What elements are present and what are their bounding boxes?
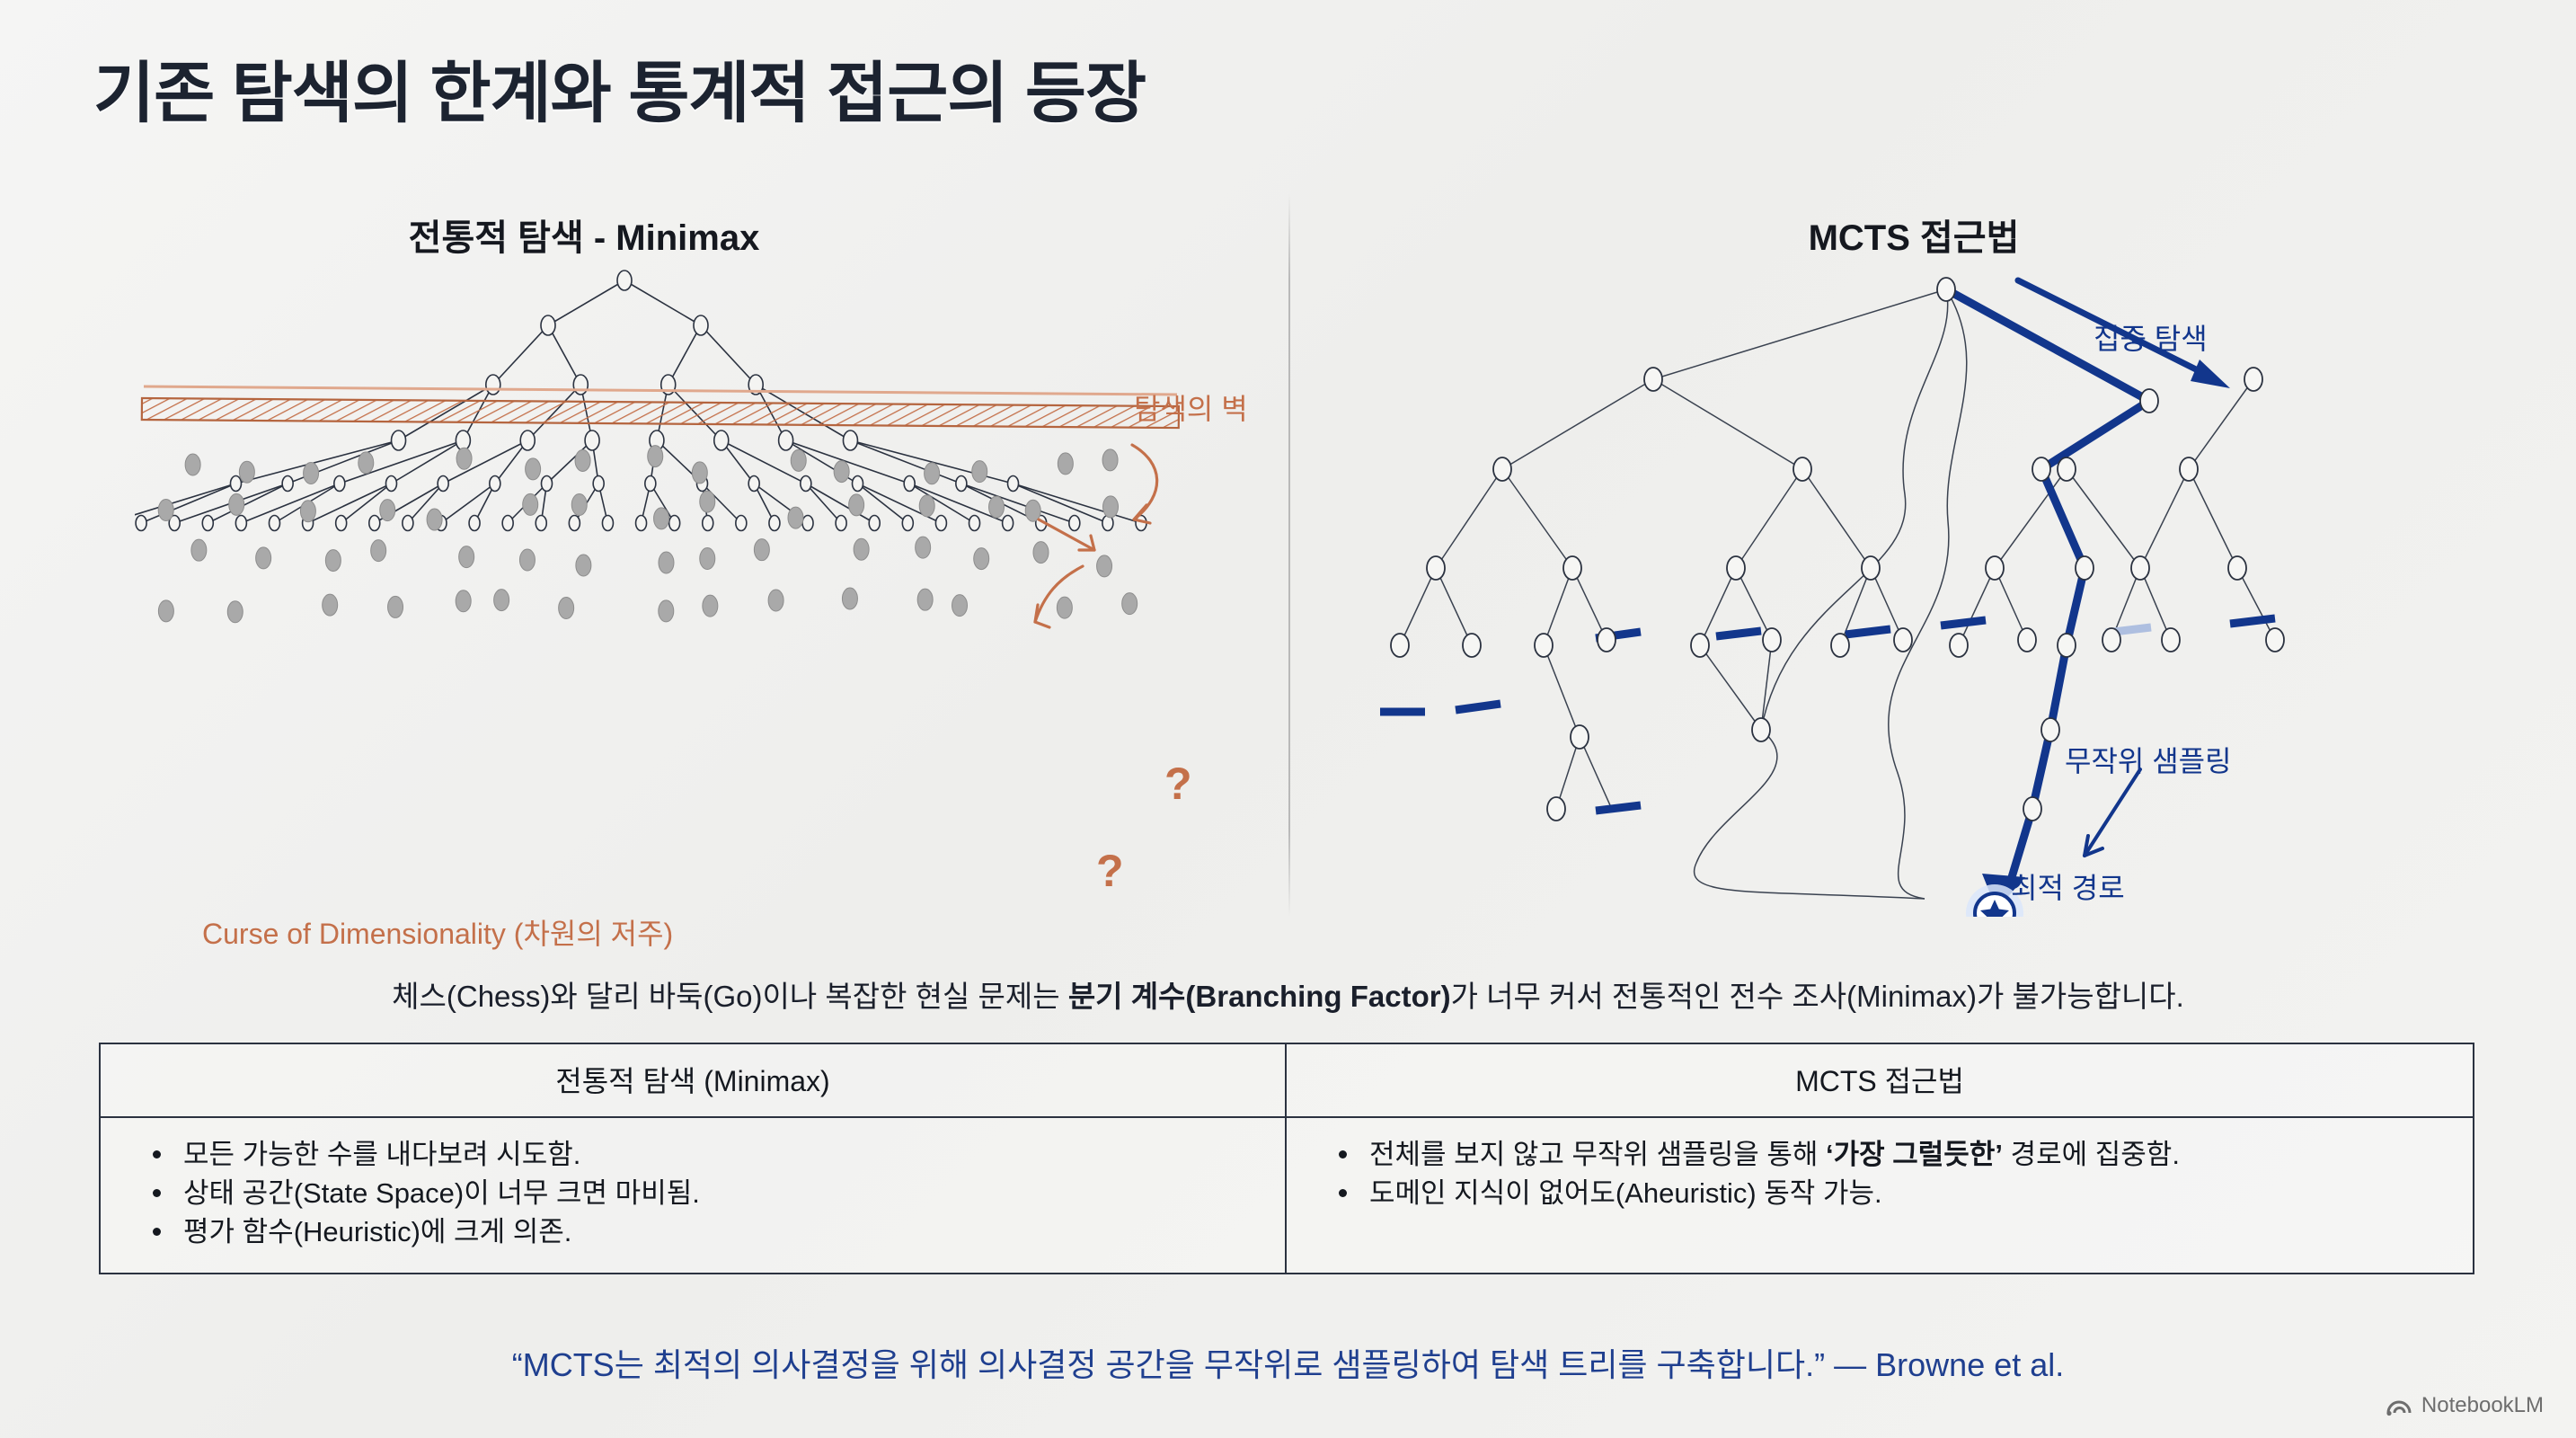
state-dot [834, 461, 849, 483]
state-dot [576, 555, 591, 576]
tree-node [469, 516, 480, 531]
state-dot [191, 539, 207, 561]
tree-node [2266, 628, 2284, 652]
tree-node [2076, 556, 2094, 580]
tree-node [2131, 556, 2149, 580]
tree-node [802, 516, 813, 531]
table-cell-mcts: 전체를 보지 않고 무작위 샘플링을 통해 ‘가장 그럴듯한’ 경로에 집중함.… [1287, 1118, 2473, 1273]
page-title: 기존 탐색의 한계와 통계적 접근의 등장 [93, 40, 1146, 136]
tree-node [438, 476, 448, 492]
tree-node [136, 516, 146, 531]
state-dot [1103, 496, 1119, 518]
tree-node [585, 431, 599, 450]
state-dot [519, 549, 535, 571]
tree-node [2102, 628, 2120, 652]
tree-node [1427, 556, 1445, 580]
state-dot [227, 601, 243, 623]
notebooklm-label: NotebookLM [2421, 1393, 2544, 1418]
state-space-dot-cloud [158, 446, 1137, 623]
state-dot [919, 495, 934, 517]
bullet-post: 경로에 집중함. [2003, 1139, 2180, 1170]
tree-node [1763, 628, 1781, 652]
tree-node [502, 516, 513, 531]
state-dot [575, 449, 590, 471]
table-header-minimax: 전통적 탐색 (Minimax) [101, 1044, 1287, 1116]
best-path-label: 최적 경로 [2011, 865, 2125, 907]
state-dot [974, 548, 989, 570]
search-wall-label: 탐색의 벽 [1134, 386, 1248, 428]
state-dot [849, 494, 864, 516]
tree-node [1547, 797, 1565, 821]
curse-of-dimensionality-label: Curse of Dimensionality (차원의 저주) [202, 911, 673, 953]
tree-node [2244, 368, 2262, 391]
tree-node [1535, 634, 1553, 657]
state-dot [788, 507, 803, 528]
tree-node [617, 271, 632, 290]
mcts-tree-diagram [1366, 270, 2534, 917]
list-item: 전체를 보지 않고 무작위 샘플링을 통해 ‘가장 그럴듯한’ 경로에 집중함. [1328, 1136, 2464, 1173]
tree-node [490, 476, 500, 492]
tree-node [869, 516, 880, 531]
tree-node [1008, 476, 1019, 492]
tree-node [1831, 634, 1849, 657]
state-dot [854, 538, 869, 560]
tree-node [569, 516, 580, 531]
tree-node [843, 431, 857, 450]
tree-node [1894, 628, 1912, 652]
tree-node [1950, 634, 1968, 657]
random-sampling-arrow [2085, 769, 2140, 856]
tree-node [392, 431, 406, 450]
state-dot [371, 540, 386, 562]
state-dot [456, 448, 472, 469]
state-dot [304, 463, 319, 484]
minimax-bullet-list: 모든 가능한 수를 내다보려 시도함. 상태 공간(State Space)이 … [142, 1136, 1276, 1251]
table-cell-minimax: 모든 가능한 수를 내다보려 시도함. 상태 공간(State Space)이 … [101, 1118, 1287, 1273]
state-dot [256, 547, 271, 569]
tree-node [202, 516, 213, 531]
tree-node [336, 516, 347, 531]
tree-node [235, 516, 246, 531]
tree-node [403, 516, 413, 531]
tree-node [486, 375, 500, 395]
state-dot [523, 493, 538, 515]
wall-question-arrow [1035, 445, 1157, 627]
tree-node [1752, 718, 1770, 741]
state-dot [1057, 597, 1072, 618]
mcts-leaf-bars [1380, 618, 2275, 811]
comparison-table: 전통적 탐색 (Minimax) MCTS 접근법 모든 가능한 수를 내다보려… [99, 1043, 2474, 1274]
state-dot [1033, 542, 1049, 564]
tree-node [969, 516, 980, 531]
notebooklm-icon [2386, 1395, 2412, 1416]
state-dot [229, 493, 244, 515]
bullet-pre: 전체를 보지 않고 무작위 샘플링을 통해 [1369, 1139, 1826, 1170]
tree-node [2140, 389, 2158, 413]
state-dot [494, 590, 509, 611]
tree-node [602, 516, 613, 531]
random-sampling-label: 무작위 샘플링 [2065, 739, 2232, 780]
left-panel-heading: 전통적 탐색 - Minimax [180, 209, 988, 261]
state-dot [700, 491, 715, 512]
state-dot [659, 552, 674, 573]
state-dot [842, 588, 857, 609]
state-dot [456, 590, 471, 612]
state-dot [388, 596, 403, 617]
tree-node [904, 476, 915, 492]
table-header-mcts: MCTS 접근법 [1287, 1044, 2473, 1116]
tree-node [1793, 457, 1811, 481]
list-item: 평가 함수(Heuristic)에 크게 의존. [142, 1213, 1276, 1250]
state-dot [1122, 593, 1138, 615]
state-dot [768, 590, 783, 611]
panel-divider [1288, 193, 1290, 917]
tree-node [520, 431, 535, 450]
right-panel-heading: MCTS 접근법 [1456, 209, 2372, 261]
tree-node [636, 516, 647, 531]
state-dot [571, 494, 587, 516]
table-body-row: 모든 가능한 수를 내다보려 시도함. 상태 공간(State Space)이 … [101, 1118, 2473, 1273]
mcts-thin-edges [1400, 289, 2275, 899]
state-dot [459, 546, 474, 568]
tree-node [902, 516, 913, 531]
state-dot [158, 600, 173, 622]
state-dot [239, 461, 254, 483]
tree-node [385, 476, 396, 492]
tree-node [836, 516, 846, 531]
state-dot [703, 595, 718, 617]
tree-node [714, 431, 729, 450]
tree-node [573, 375, 588, 395]
state-dot [916, 537, 931, 558]
state-dot [654, 508, 669, 529]
tree-node [1003, 516, 1014, 531]
tree-node [779, 431, 793, 450]
state-dot [925, 463, 940, 484]
state-dot [1058, 453, 1073, 475]
tree-node [2018, 628, 2036, 652]
list-item: 도메인 지식이 없어도(Aheuristic) 동작 가능. [1328, 1175, 2464, 1212]
state-dot [158, 500, 173, 521]
tree-node [1644, 368, 1662, 391]
state-dot [526, 458, 541, 480]
tree-node [1563, 556, 1581, 580]
mcts-bullet-list: 전체를 보지 않고 무작위 샘플링을 통해 ‘가장 그럴듯한’ 경로에 집중함.… [1328, 1136, 2464, 1212]
tree-node [1598, 628, 1616, 652]
caption-line: 체스(Chess)와 달리 바둑(Go)이나 복잡한 현실 문제는 분기 계수(… [0, 972, 2576, 1016]
tree-node [645, 476, 656, 492]
question-mark-upper: ? [1164, 758, 1192, 810]
tree-node [541, 315, 555, 335]
tree-node [593, 476, 604, 492]
tree-node [2228, 556, 2246, 580]
state-dot [659, 600, 674, 622]
state-dot [300, 501, 315, 522]
state-dot [952, 595, 968, 617]
state-dot [1097, 555, 1112, 577]
list-item: 상태 공간(State Space)이 너무 크면 마비됨. [142, 1175, 1276, 1212]
state-dot [427, 509, 442, 530]
tree-node [334, 476, 345, 492]
table-header-row: 전통적 탐색 (Minimax) MCTS 접근법 [101, 1044, 2473, 1118]
tree-node [2058, 457, 2076, 481]
tree-node [1069, 516, 1080, 531]
list-item: 모든 가능한 수를 내다보려 시도함. [142, 1136, 1276, 1173]
caption-bold: 분기 계수(Branching Factor) [1068, 980, 1451, 1013]
state-dot [917, 589, 933, 610]
tree-node [2032, 457, 2050, 481]
tree-node [269, 516, 279, 531]
quote-line: “MCTS는 최적의 의사결정을 위해 의사결정 공간을 무작위로 샘플링하여 … [0, 1339, 2576, 1386]
state-dot [185, 454, 200, 475]
focused-search-label: 집중 탐색 [2094, 316, 2208, 358]
tree-node [1391, 634, 1409, 657]
tree-node [1463, 634, 1481, 657]
state-dot [323, 594, 338, 616]
state-dot [700, 547, 715, 569]
state-dot [989, 496, 1005, 518]
tree-node [541, 476, 552, 492]
tree-node [1493, 457, 1511, 481]
tree-node [1727, 556, 1745, 580]
state-dot [972, 461, 987, 483]
tree-node [2041, 718, 2059, 741]
slide-canvas: 기존 탐색의 한계와 통계적 접근의 등장 전통적 탐색 - Minimax M… [0, 0, 2576, 1438]
tree-node [1571, 725, 1589, 749]
state-dot [380, 500, 395, 521]
tree-node [369, 516, 380, 531]
caption-part2: 가 너무 커서 전통적인 전수 조사(Minimax)가 불가능합니다. [1451, 980, 2184, 1013]
search-wall [142, 386, 1179, 428]
tree-node [801, 476, 811, 492]
tree-node [1862, 556, 1880, 580]
state-dot [754, 539, 769, 561]
tree-node [2023, 797, 2041, 821]
state-dot [692, 462, 707, 484]
tree-node [230, 476, 241, 492]
notebooklm-watermark: NotebookLM [2386, 1393, 2544, 1418]
state-dot [648, 446, 663, 467]
tree-node [536, 516, 546, 531]
state-dot [1102, 449, 1118, 471]
tree-node [282, 476, 293, 492]
tree-node [1691, 634, 1709, 657]
tree-node [694, 315, 708, 335]
tree-node [703, 516, 713, 531]
tree-node [1937, 278, 1955, 301]
tree-node [748, 476, 759, 492]
tree-node [935, 516, 946, 531]
state-dot [325, 550, 341, 572]
state-dot [359, 452, 374, 474]
bullet-bold: ‘가장 그럴듯한’ [1826, 1139, 2003, 1170]
question-mark-lower: ? [1096, 845, 1124, 897]
state-dot [559, 598, 574, 619]
tree-node [2180, 457, 2198, 481]
tree-node [2058, 634, 2076, 657]
state-dot [791, 449, 806, 471]
minimax-tree-diagram [135, 270, 1285, 917]
tree-node [2162, 628, 2180, 652]
tree-node [456, 431, 470, 450]
caption-part1: 체스(Chess)와 달리 바둑(Go)이나 복잡한 현실 문제는 [392, 980, 1068, 1013]
tree-node [669, 516, 680, 531]
tree-node [853, 476, 863, 492]
tree-node [956, 476, 967, 492]
tree-node [736, 516, 747, 531]
tree-node [769, 516, 780, 531]
tree-node [1986, 556, 2004, 580]
